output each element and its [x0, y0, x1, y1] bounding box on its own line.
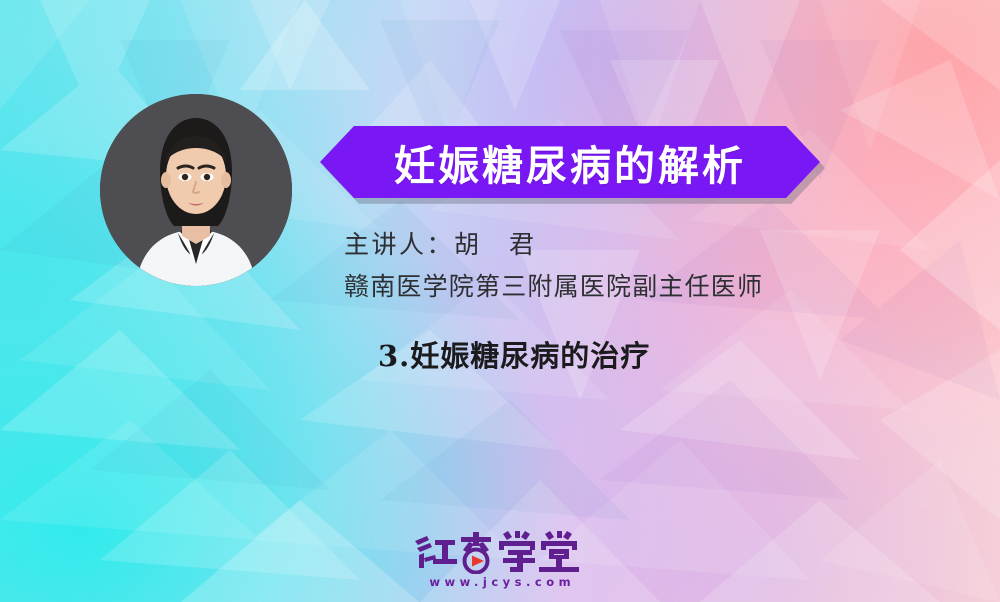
play-button-icon [465, 550, 488, 573]
brand-url: www.jcys.com [408, 575, 592, 589]
presentation-slide: 妊娠糖尿病的解析 主讲人：胡 君 赣南医学院第三附属医院副主任医师 3.妊娠糖尿… [0, 0, 1000, 602]
speaker-info: 主讲人：胡 君 赣南医学院第三附属医院副主任医师 [344, 224, 864, 308]
speaker-affiliation-line: 赣南医学院第三附属医院副主任医师 [344, 266, 864, 308]
slide-title: 妊娠糖尿病的解析 [320, 126, 820, 198]
speaker-name-line: 主讲人：胡 君 [344, 224, 864, 266]
brand-logo-mark [408, 528, 592, 574]
section-heading: 3.妊娠糖尿病的治疗 [378, 333, 650, 375]
lecturer-portrait [100, 94, 292, 286]
title-banner: 妊娠糖尿病的解析 [320, 126, 820, 204]
brand-logo: www.jcys.com [408, 528, 592, 594]
